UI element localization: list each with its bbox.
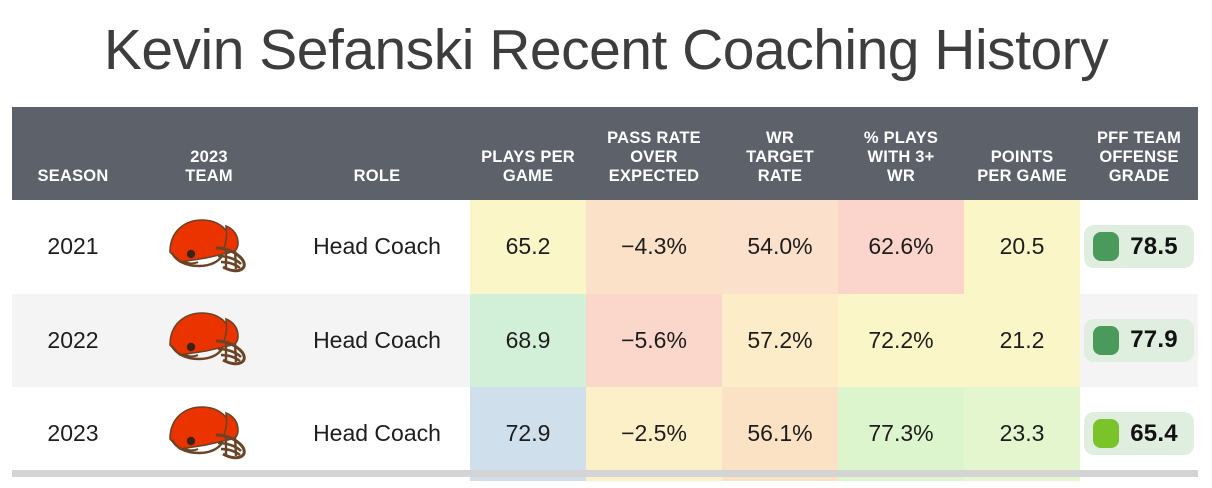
grade-badge: 78.5 [1084,225,1194,268]
cell-team [134,387,284,481]
cell-pff-team-offense-grade: 77.9 [1080,294,1198,388]
bottom-divider [12,470,1198,477]
column-header-team[interactable]: 2023 TEAM [134,107,284,200]
cell-plays-per-game: 65.2 [470,200,586,294]
cell-points-per-game: 23.3 [964,387,1080,481]
header-line: ROLE [354,167,401,185]
grade-color-chip [1093,326,1119,355]
header-line: TARGET [726,148,834,167]
cell-role: Head Coach [284,294,470,388]
header-line: TEAM [138,167,280,186]
header-line: RATE [726,167,834,186]
header-line: WITH 3+ [842,148,960,167]
column-header-points-per-game[interactable]: POINTS PER GAME [964,107,1080,200]
header-line: GRADE [1084,167,1194,186]
cell-points-per-game: 21.2 [964,294,1080,388]
cell-plays-per-game: 72.9 [470,387,586,481]
table-row[interactable]: 2021 [12,200,1198,294]
cell-pff-team-offense-grade: 65.4 [1080,387,1198,481]
column-header-plays-per-game[interactable]: PLAYS PER GAME [470,107,586,200]
table-row[interactable]: 2023 [12,387,1198,481]
header-line: OFFENSE [1084,148,1194,167]
header-line: SEASON [38,167,109,185]
cell-team [134,294,284,388]
cell-pff-team-offense-grade: 78.5 [1080,200,1198,294]
grade-badge: 65.4 [1084,412,1194,455]
grade-value: 78.5 [1130,233,1178,261]
column-header-role[interactable]: ROLE [284,107,470,200]
cell-pass-rate-over-expected: −2.5% [586,387,722,481]
header-line: % PLAYS [842,129,960,148]
table-row[interactable]: 2022 [12,294,1198,388]
header-line: OVER [590,148,718,167]
cell-plays-per-game: 68.9 [470,294,586,388]
header-line: PFF TEAM [1084,129,1194,148]
cell-points-per-game: 20.5 [964,200,1080,294]
cell-season: 2023 [12,387,134,481]
coaching-history-table: SEASON 2023 TEAM ROLE PLAYS PER GAME PAS… [12,107,1198,481]
column-header-pff-team-offense-grade[interactable]: PFF TEAM OFFENSE GRADE [1080,107,1198,200]
grade-badge: 77.9 [1084,319,1194,362]
header-line: WR [842,167,960,186]
column-header-season[interactable]: SEASON [12,107,134,200]
cell-wr-target-rate: 57.2% [722,294,838,388]
grade-value: 77.9 [1130,326,1178,354]
header-line: PASS RATE [590,129,718,148]
header-line: WR [726,129,834,148]
page-title: Kevin Sefanski Recent Coaching History [0,12,1212,88]
cell-season: 2022 [12,294,134,388]
table-body: 2021 [12,200,1198,481]
cell-pct-plays-3wr: 72.2% [838,294,964,388]
header-line: POINTS [968,148,1076,167]
table-graphic-page: Kevin Sefanski Recent Coaching History S… [0,0,1212,488]
browns-helmet-icon [134,403,284,465]
header-line: PER GAME [968,167,1076,186]
browns-helmet-icon [134,309,284,371]
cell-pct-plays-3wr: 62.6% [838,200,964,294]
cell-team [134,200,284,294]
grade-color-chip [1093,419,1119,448]
grade-color-chip [1093,232,1119,261]
grade-value: 65.4 [1130,420,1178,448]
cell-role: Head Coach [284,387,470,481]
header-line: PLAYS PER [474,148,582,167]
cell-season: 2021 [12,200,134,294]
table-header: SEASON 2023 TEAM ROLE PLAYS PER GAME PAS… [12,107,1198,200]
cell-pass-rate-over-expected: −4.3% [586,200,722,294]
column-header-wr-target-rate[interactable]: WR TARGET RATE [722,107,838,200]
header-line: GAME [474,167,582,186]
cell-role: Head Coach [284,200,470,294]
header-line: 2023 [138,148,280,167]
cell-wr-target-rate: 56.1% [722,387,838,481]
cell-pct-plays-3wr: 77.3% [838,387,964,481]
table-header-row: SEASON 2023 TEAM ROLE PLAYS PER GAME PAS… [12,107,1198,200]
cell-pass-rate-over-expected: −5.6% [586,294,722,388]
column-header-pct-plays-3wr[interactable]: % PLAYS WITH 3+ WR [838,107,964,200]
browns-helmet-icon [134,216,284,278]
cell-wr-target-rate: 54.0% [722,200,838,294]
header-line: EXPECTED [590,167,718,186]
column-header-pass-rate-over-expected[interactable]: PASS RATE OVER EXPECTED [586,107,722,200]
